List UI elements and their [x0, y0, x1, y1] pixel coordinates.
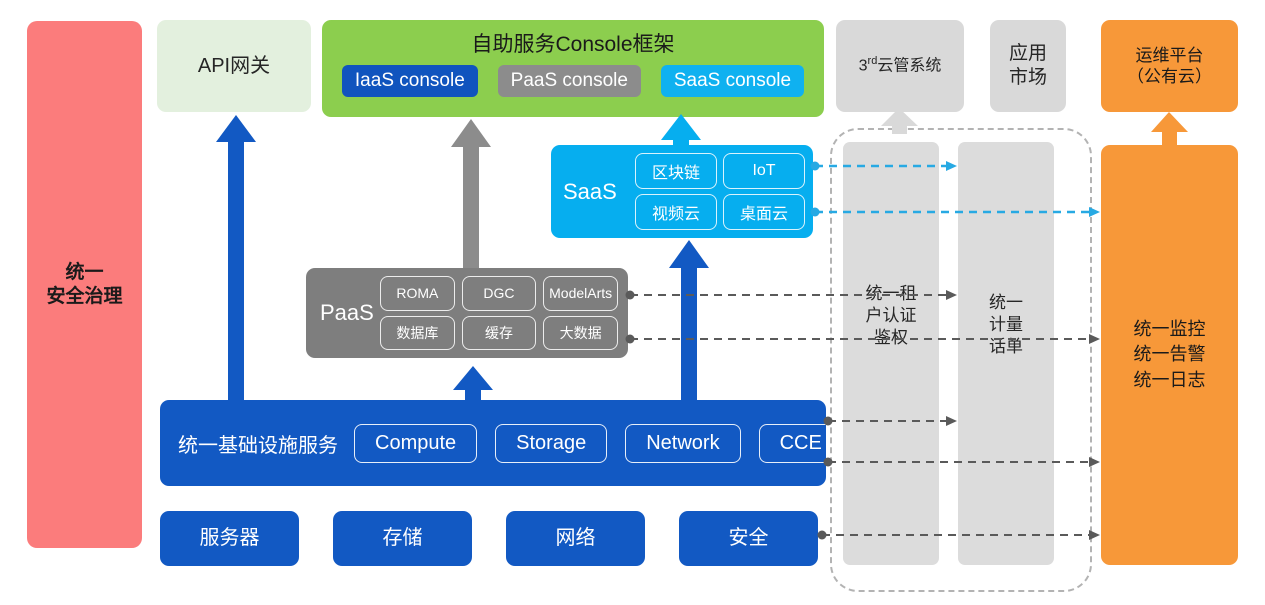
paas-item-bigdata[interactable]: 大数据 [543, 316, 618, 351]
ops-platform-box: 运维平台（公有云） [1101, 20, 1238, 112]
saas-layer-label: SaaS [563, 179, 617, 205]
paas-item-modelarts[interactable]: ModelArts [543, 276, 618, 311]
paas-layer-label: PaaS [320, 300, 374, 326]
paas-item-cache[interactable]: 缓存 [462, 316, 537, 351]
arrow-monitoring-to-ops-platform [1151, 112, 1188, 146]
tenant-auth-column [843, 142, 939, 565]
paas-item-dgc[interactable]: DGC [462, 276, 537, 311]
hardware-item-security[interactable]: 安全 [679, 511, 818, 566]
iaas-console-pill[interactable]: IaaS console [342, 65, 478, 97]
saas-item-video-cloud[interactable]: 视频云 [635, 194, 717, 230]
unified-monitoring-panel: 统一监控统一告警统一日志 [1101, 145, 1238, 565]
architecture-diagram: 统一安全治理 API网关 自助服务Console框架 IaaS console … [0, 0, 1265, 605]
api-gateway-box: API网关 [157, 20, 311, 112]
hardware-item-network[interactable]: 网络 [506, 511, 645, 566]
tenant-auth-label: 统一租户认证鉴权 [843, 283, 939, 349]
app-market-box: 应用市场 [990, 20, 1066, 112]
security-governance-label: 统一安全治理 [46, 261, 122, 309]
iaas-item-storage[interactable]: Storage [495, 424, 607, 463]
app-market-label: 应用市场 [1009, 42, 1047, 90]
iaas-item-compute[interactable]: Compute [354, 424, 477, 463]
hardware-item-storage[interactable]: 存储 [333, 511, 472, 566]
saas-console-pill[interactable]: SaaS console [661, 65, 804, 97]
third-party-cloud-mgmt-label: 3rd云管系统 [859, 55, 942, 76]
saas-service-grid: 区块链 IoT 视频云 桌面云 [635, 153, 805, 230]
saas-layer: SaaS 区块链 IoT 视频云 桌面云 [551, 145, 813, 238]
third-party-cloud-mgmt-box: 3rd云管系统 [836, 20, 964, 112]
arrow-paas-to-console [451, 119, 491, 268]
unified-monitoring-label: 统一监控统一告警统一日志 [1134, 317, 1206, 393]
api-gateway-label: API网关 [198, 54, 270, 79]
console-frame-title: 自助服务Console框架 [322, 28, 824, 58]
ops-platform-label: 运维平台（公有云） [1127, 45, 1212, 88]
paas-console-pill[interactable]: PaaS console [498, 65, 641, 97]
metering-label: 统一计量话单 [958, 292, 1054, 358]
saas-item-blockchain[interactable]: 区块链 [635, 153, 717, 189]
arrow-iaas-to-paas [453, 366, 493, 402]
iaas-item-network[interactable]: Network [625, 424, 740, 463]
hardware-server-label: 服务器 [200, 526, 260, 551]
hardware-network-label: 网络 [556, 526, 596, 551]
paas-item-database[interactable]: 数据库 [380, 316, 455, 351]
paas-service-grid: ROMA DGC ModelArts 数据库 缓存 大数据 [380, 276, 618, 350]
saas-item-desktop-cloud[interactable]: 桌面云 [723, 194, 805, 230]
self-service-console-frame: 自助服务Console框架 IaaS console PaaS console … [322, 20, 824, 117]
hardware-security-label: 安全 [729, 526, 769, 551]
unified-infrastructure-service-label: 统一基础设施服务 [178, 429, 338, 458]
saas-item-iot[interactable]: IoT [723, 153, 805, 189]
security-governance-pillar: 统一安全治理 [27, 21, 142, 548]
iaas-service-list: Compute Storage Network CCE [354, 424, 843, 463]
console-pill-list: IaaS console PaaS console SaaS console [322, 65, 824, 97]
paas-layer: PaaS ROMA DGC ModelArts 数据库 缓存 大数据 [306, 268, 628, 358]
arrow-iaas-to-api-gateway [216, 115, 256, 400]
hardware-item-server[interactable]: 服务器 [160, 511, 299, 566]
arrow-iaas-to-saas [669, 240, 709, 402]
arrow-saas-to-console [661, 114, 701, 148]
unified-infrastructure-service-bar: 统一基础设施服务 Compute Storage Network CCE [160, 400, 826, 486]
hardware-storage-label: 存储 [383, 526, 423, 551]
paas-item-roma[interactable]: ROMA [380, 276, 455, 311]
